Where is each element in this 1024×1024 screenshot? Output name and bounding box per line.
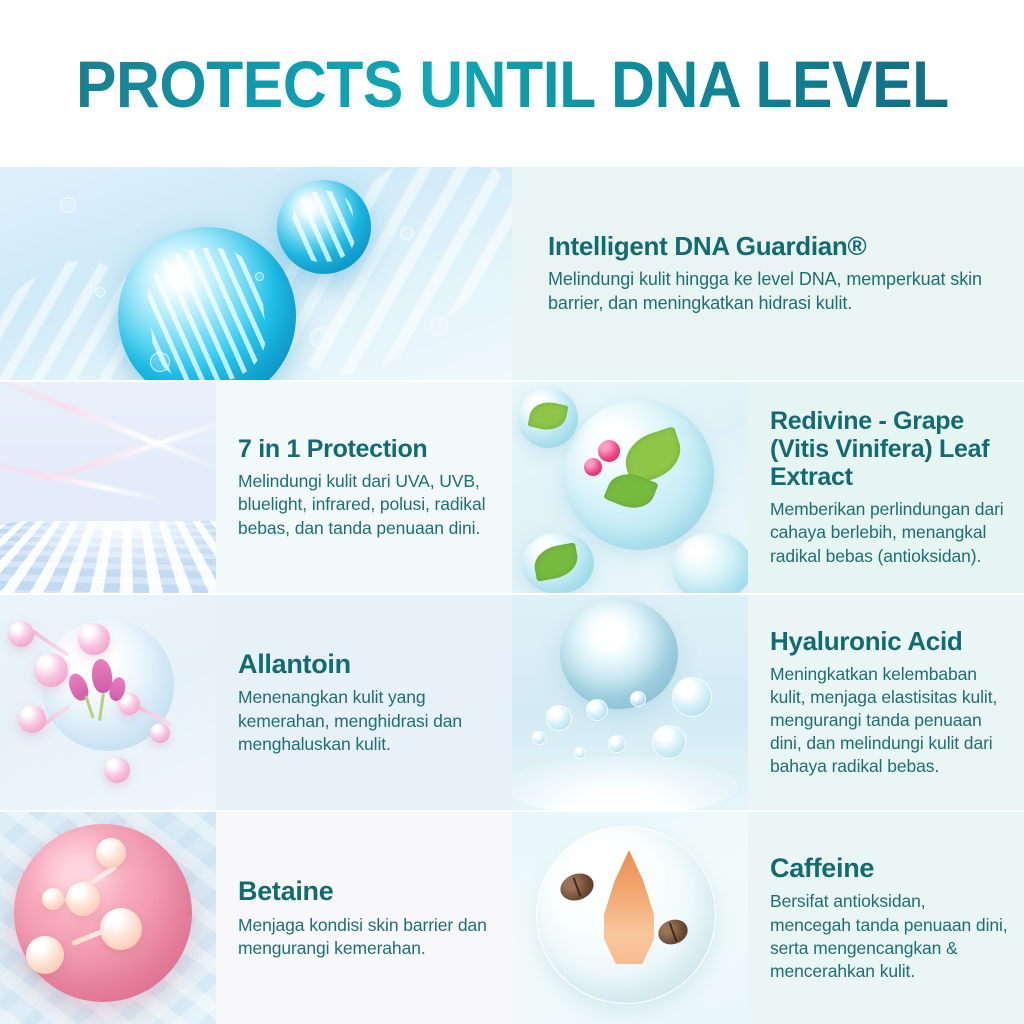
heading-hyaluronic-acid: Hyaluronic Acid: [770, 627, 1010, 656]
heading-redivine-grape-leaf-extract: Redivine - Grape (Vitis Vinifera) Leaf E…: [770, 407, 1004, 491]
row-7in1-and-redivine: 7 in 1 Protection Melindungi kulit dari …: [0, 382, 1024, 593]
text-panel-7-in-1-protection: 7 in 1 Protection Melindungi kulit dari …: [216, 382, 512, 593]
heading-betaine: Betaine: [238, 876, 494, 906]
text-panel-betaine: Betaine Menjaga kondisi skin barrier dan…: [216, 812, 512, 1024]
heading-7-in-1-protection: 7 in 1 Protection: [238, 435, 494, 463]
body-caffeine: Bersifat antioksidan, mencegah tanda pen…: [770, 890, 1010, 982]
row-betaine-and-caffeine: Betaine Menjaga kondisi skin barrier dan…: [0, 812, 1024, 1024]
body-betaine: Menjaga kondisi skin barrier dan mengura…: [238, 914, 494, 960]
text-panel-hyaluronic-acid: Hyaluronic Acid Meningkatkan kelembaban …: [748, 595, 1024, 810]
body-redivine-grape-leaf-extract: Memberikan perlindungan dari cahaya berl…: [770, 498, 1004, 567]
image-caffeine-droplet-coffee-bean: [512, 812, 748, 1024]
image-skin-shield-surface: [0, 382, 216, 593]
row-allantoin-and-hyaluronic-acid: Allantoin Menenangkan kulit yang kemerah…: [0, 595, 1024, 810]
page-header: PROTECTS UNTIL DNA LEVEL: [0, 0, 1024, 167]
body-hyaluronic-acid: Meningkatkan kelembaban kulit, menjaga e…: [770, 663, 1010, 778]
text-panel-intelligent-dna-guardian: Intelligent DNA Guardian® Melindungi kul…: [512, 167, 1024, 380]
image-allantoin-flower-molecule: [0, 595, 216, 810]
body-intelligent-dna-guardian: Melindungi kulit hingga ke level DNA, me…: [548, 268, 994, 316]
body-allantoin: Menenangkan kulit yang kemerahan, menghi…: [238, 686, 494, 755]
image-water-bubbles: [512, 595, 748, 810]
image-dna-sphere-bubbles: [0, 167, 512, 380]
body-7-in-1-protection: Melindungi kulit dari UVA, UVB, blueligh…: [238, 470, 494, 539]
text-panel-allantoin: Allantoin Menenangkan kulit yang kemerah…: [216, 595, 512, 810]
infographic-page: PROTECTS UNTIL DNA LEVEL: [0, 0, 1024, 1024]
heading-caffeine: Caffeine: [770, 853, 1010, 883]
ingredient-grid: Intelligent DNA Guardian® Melindungi kul…: [0, 167, 1024, 1024]
text-panel-caffeine: Caffeine Bersifat antioksidan, mencegah …: [748, 812, 1024, 1024]
text-panel-redivine-grape-leaf-extract: Redivine - Grape (Vitis Vinifera) Leaf E…: [748, 382, 1024, 593]
page-title: PROTECTS UNTIL DNA LEVEL: [76, 46, 949, 122]
heading-intelligent-dna-guardian: Intelligent DNA Guardian®: [548, 232, 994, 261]
image-grape-leaf-bubble: [512, 382, 748, 593]
heading-allantoin: Allantoin: [238, 649, 494, 679]
row-intelligent-dna-guardian: Intelligent DNA Guardian® Melindungi kul…: [0, 167, 1024, 380]
image-betaine-pink-molecule: [0, 812, 216, 1024]
